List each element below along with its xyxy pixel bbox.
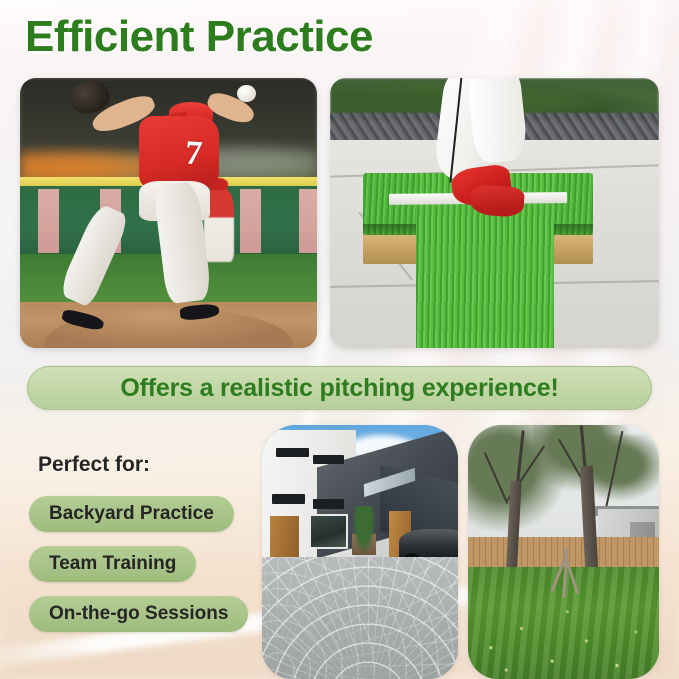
red-cleat <box>470 184 525 217</box>
wall-pad <box>299 189 317 254</box>
pitcher-scene <box>20 78 317 348</box>
tagline-banner: Offers a realistic pitching experience! <box>27 366 652 410</box>
backyard-scene <box>468 425 659 679</box>
photo-portable-pitching-mound <box>330 78 659 348</box>
photo-paver-driveway <box>262 425 458 679</box>
parked-car <box>399 529 458 559</box>
large-window <box>309 514 348 550</box>
wooden-garage-door <box>270 516 299 559</box>
window <box>276 448 309 457</box>
tagline-text: Offers a realistic pitching experience! <box>120 374 558 403</box>
wall-pad <box>38 189 59 254</box>
driveway-scene <box>262 425 458 679</box>
use-case-tag-list: Backyard Practice Team Training On-the-g… <box>29 496 248 632</box>
red-jersey-number-7 <box>139 116 219 189</box>
window <box>313 455 344 464</box>
perfect-for-heading: Perfect for: <box>38 453 150 477</box>
page-title: Efficient Practice <box>25 12 373 62</box>
top-photo-row <box>20 78 659 348</box>
pitching-mound-scene <box>330 78 659 348</box>
product-feature-poster: Efficient Practice <box>0 0 679 679</box>
tag-on-the-go-sessions: On-the-go Sessions <box>29 596 248 632</box>
tag-team-training: Team Training <box>29 546 196 582</box>
photo-backyard-lawn <box>468 425 659 679</box>
wall-pad <box>240 189 261 254</box>
paver-pattern-overlay <box>262 557 458 679</box>
window <box>313 499 344 509</box>
window <box>272 494 305 504</box>
white-baseball-pants-leg <box>467 78 529 164</box>
potted-plant <box>352 506 376 554</box>
photo-youth-baseball-pitcher <box>20 78 317 348</box>
tag-backyard-practice: Backyard Practice <box>29 496 234 532</box>
